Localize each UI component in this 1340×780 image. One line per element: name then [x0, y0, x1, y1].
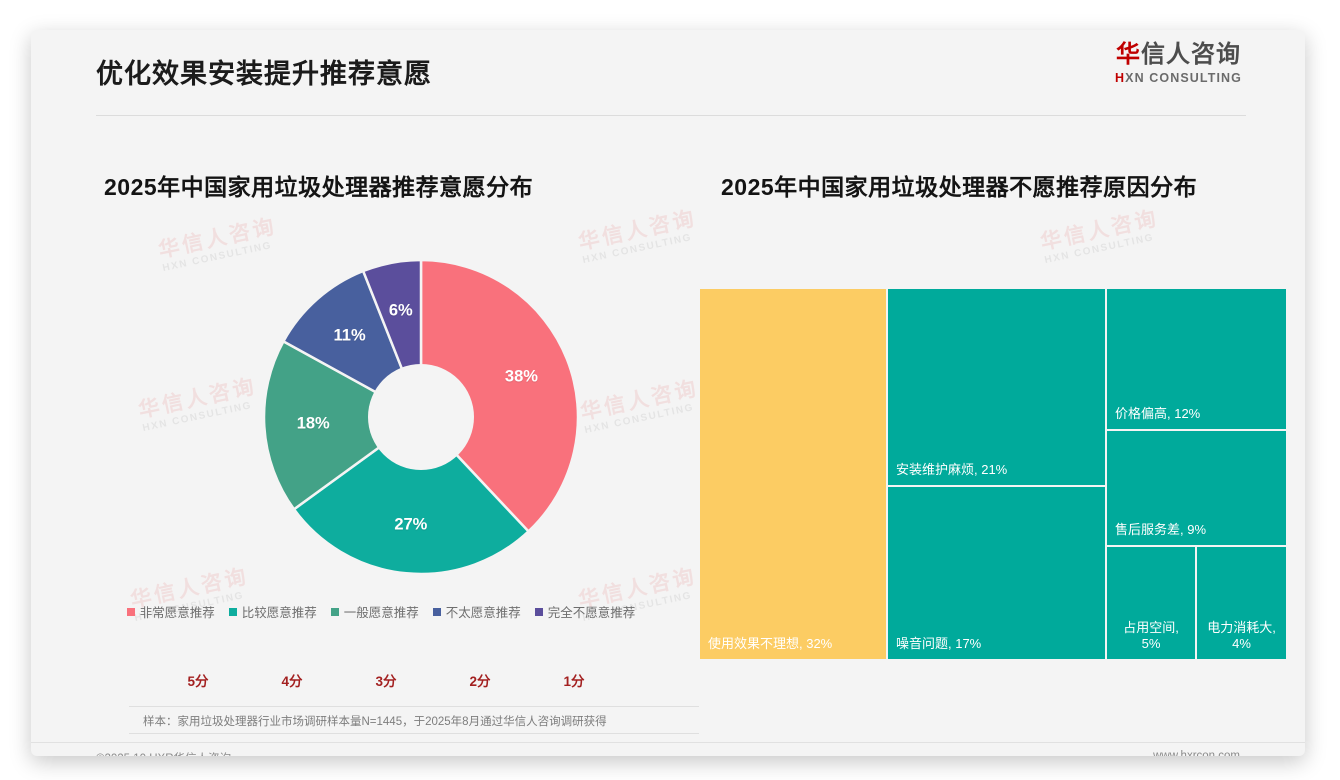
treemap-cell[interactable]: 售后服务差, 9%: [1106, 430, 1287, 546]
page-title: 优化效果安装提升推荐意愿: [96, 52, 432, 91]
treemap-cell[interactable]: 价格偏高, 12%: [1106, 288, 1287, 430]
legend-item[interactable]: 不太愿意推荐: [433, 602, 521, 621]
note-divider-bottom: [129, 733, 699, 734]
treemap-cell-label: 占用空间, 5%: [1107, 620, 1195, 653]
treemap-cell[interactable]: 使用效果不理想, 32%: [699, 288, 887, 660]
logo-char-hua: 华: [1116, 41, 1141, 68]
legend-swatch-icon: [229, 608, 237, 616]
donut-slice-label: 11%: [334, 326, 366, 345]
treemap-cell-label: 电力消耗大, 4%: [1197, 620, 1286, 653]
legend-item[interactable]: 非常愿意推荐: [127, 602, 215, 621]
treemap-cell-label: 安装维护麻烦, 21%: [888, 462, 1015, 478]
slide-footer: ©2025.10 HXR华信人咨询 www.hxrcon.com: [31, 748, 1305, 756]
note-divider-top: [129, 706, 699, 707]
logo-en-rest: XN CONSULTING: [1125, 71, 1242, 85]
logo-en-first: H: [1115, 71, 1125, 85]
legend-item[interactable]: 完全不愿意推荐: [535, 602, 636, 621]
treemap-chart: 使用效果不理想, 32%安装维护麻烦, 21%噪音问题, 17%价格偏高, 12…: [699, 288, 1287, 660]
legend-item[interactable]: 比较愿意推荐: [229, 602, 317, 621]
donut-slice-label: 6%: [389, 301, 413, 320]
sample-note: 样本：家用垃圾处理器行业市场调研样本量N=1445，于2025年8月通过华信人咨…: [143, 713, 607, 729]
treemap-cell-label: 使用效果不理想, 32%: [700, 636, 840, 652]
header-divider: [96, 115, 1246, 116]
slide-header: 优化效果安装提升推荐意愿 华信人咨询 HXN CONSULTING: [31, 30, 1305, 116]
donut-legend: 非常愿意推荐比较愿意推荐一般愿意推荐不太愿意推荐完全不愿意推荐: [101, 602, 661, 621]
legend-item[interactable]: 一般愿意推荐: [331, 602, 419, 621]
slide-card: 华信人咨询 HXN CONSULTING 华信人咨询 HXN CONSULTIN…: [31, 30, 1305, 756]
treemap-cell[interactable]: 噪音问题, 17%: [887, 486, 1106, 660]
legend-swatch-icon: [127, 608, 135, 616]
watermark-cn: 华信人咨询: [1039, 208, 1161, 253]
treemap-cell[interactable]: 占用空间, 5%: [1106, 546, 1196, 660]
logo-chinese: 华信人咨询: [1115, 42, 1242, 68]
donut-slice-label: 38%: [505, 368, 538, 387]
footer-website: www.hxrcon.com: [1153, 750, 1240, 756]
right-chart-title: 2025年中国家用垃圾处理器不愿推荐原因分布: [721, 168, 1197, 202]
donut-graphic: 38%27%18%11%6%: [256, 252, 586, 582]
legend-label: 完全不愿意推荐: [548, 602, 636, 621]
donut-slice-label: 18%: [297, 414, 330, 433]
footer-divider: [31, 742, 1305, 743]
watermark-en: HXN CONSULTING: [1044, 231, 1163, 266]
score-label: 3分: [339, 670, 433, 690]
legend-label: 比较愿意推荐: [242, 602, 317, 621]
legend-swatch-icon: [535, 608, 543, 616]
legend-label: 一般愿意推荐: [344, 602, 419, 621]
treemap-cell[interactable]: 电力消耗大, 4%: [1196, 546, 1287, 660]
footer-copyright: ©2025.10 HXR华信人咨询: [96, 750, 231, 756]
treemap-cell-label: 售后服务差, 9%: [1107, 522, 1214, 538]
left-chart-title: 2025年中国家用垃圾处理器推荐意愿分布: [104, 168, 533, 202]
score-scale-row: 5分4分3分2分1分: [151, 670, 651, 690]
logo-chinese-rest: 信人咨询: [1141, 41, 1241, 68]
score-label: 1分: [527, 670, 621, 690]
logo-english: HXN CONSULTING: [1115, 71, 1242, 85]
score-label: 5分: [151, 670, 245, 690]
company-logo: 华信人咨询 HXN CONSULTING: [1115, 42, 1242, 85]
donut-hole: [368, 364, 474, 470]
donut-slice-label: 27%: [394, 515, 427, 534]
legend-swatch-icon: [433, 608, 441, 616]
treemap-cell[interactable]: 安装维护麻烦, 21%: [887, 288, 1106, 486]
treemap-cell-label: 噪音问题, 17%: [888, 636, 989, 652]
score-label: 2分: [433, 670, 527, 690]
legend-swatch-icon: [331, 608, 339, 616]
legend-label: 非常愿意推荐: [140, 602, 215, 621]
treemap-cell-label: 价格偏高, 12%: [1107, 406, 1208, 422]
donut-chart: 38%27%18%11%6%: [101, 242, 641, 612]
legend-label: 不太愿意推荐: [446, 602, 521, 621]
score-label: 4分: [245, 670, 339, 690]
